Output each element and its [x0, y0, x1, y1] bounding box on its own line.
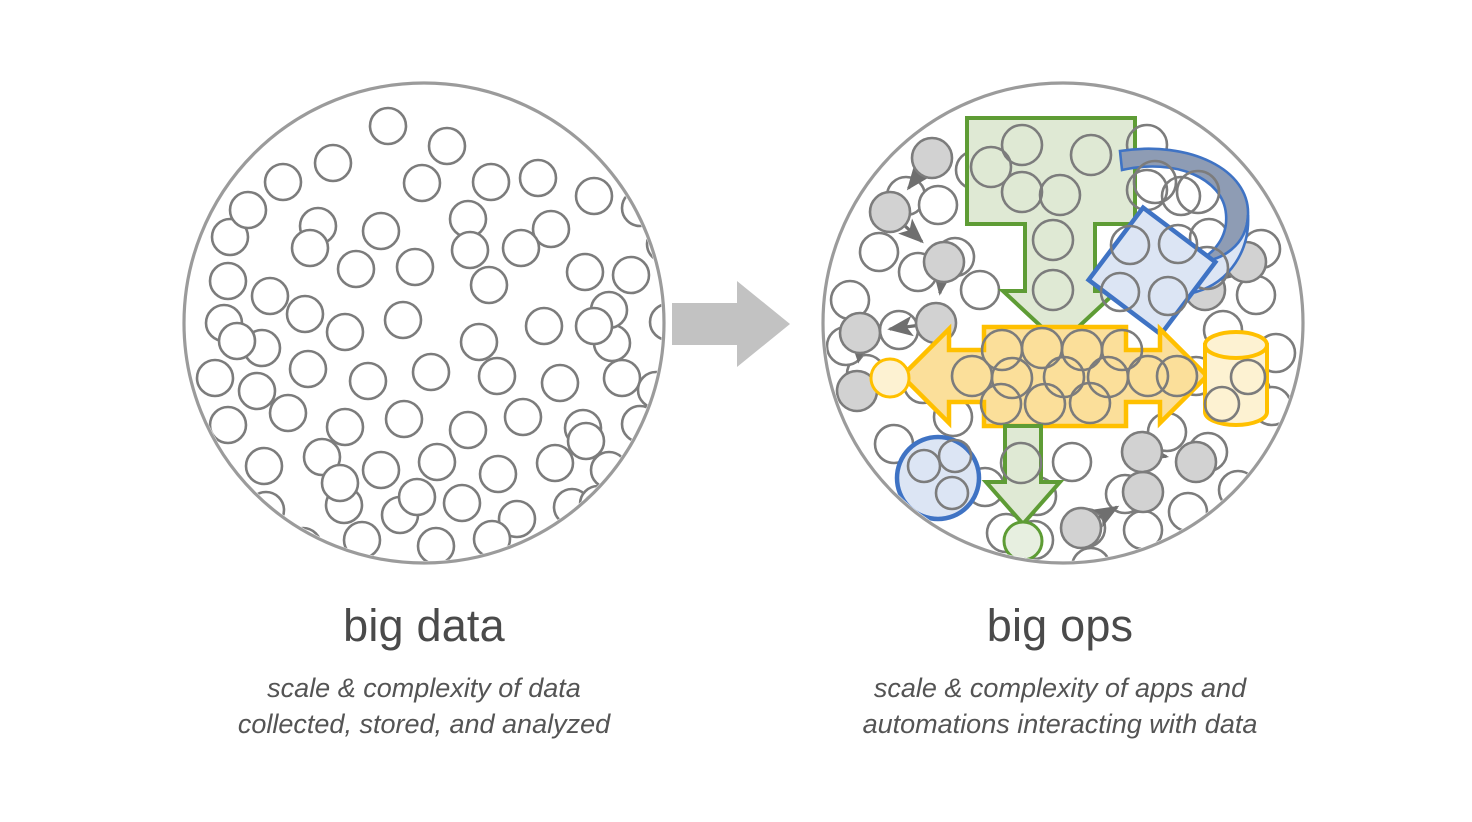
- data-dot: [397, 249, 433, 285]
- big-data-subtitle-line-2: collected, stored, and analyzed: [238, 709, 611, 739]
- ops-dot: [961, 271, 999, 309]
- data-dot: [580, 486, 616, 522]
- big-ops-subtitle-line-2: automations interacting with data: [863, 709, 1258, 739]
- ops-dot: [919, 186, 957, 224]
- data-dot: [568, 423, 604, 459]
- yellow-database-cylinder[interactable]: [1205, 332, 1267, 425]
- ops-dot: [860, 233, 898, 271]
- data-dot: [327, 409, 363, 445]
- big-data-vs-big-ops-diagram: big data scale & complexity of data coll…: [0, 0, 1472, 822]
- ops-dot: [1162, 177, 1200, 215]
- data-dot: [418, 528, 454, 564]
- automation-link-arrow: [1163, 456, 1167, 457]
- right-arrow-icon: [672, 281, 790, 367]
- data-dot: [290, 351, 326, 387]
- ops-dot: [1135, 551, 1173, 589]
- data-dot: [197, 360, 233, 396]
- data-dot: [526, 308, 562, 344]
- data-dot: [315, 145, 351, 181]
- automation-node: [1123, 472, 1163, 512]
- data-dot: [473, 164, 509, 200]
- big-data-caption: big data scale & complexity of data coll…: [238, 600, 611, 739]
- data-dot: [385, 302, 421, 338]
- data-dot: [265, 164, 301, 200]
- automation-node: [1176, 442, 1216, 482]
- data-dot: [350, 363, 386, 399]
- automation-node: [912, 138, 952, 178]
- data-dot: [252, 278, 288, 314]
- data-dot: [480, 456, 516, 492]
- big-data-title: big data: [343, 600, 506, 651]
- data-dot: [292, 230, 328, 266]
- data-dot: [452, 232, 488, 268]
- automation-node: [840, 313, 880, 353]
- data-dot: [404, 165, 440, 201]
- automation-node: [870, 192, 910, 232]
- data-dot: [479, 358, 515, 394]
- automation-node: [1061, 508, 1101, 548]
- data-dot: [537, 445, 573, 481]
- data-dot: [647, 226, 683, 262]
- big-ops-panel: [823, 83, 1303, 589]
- data-dot: [338, 251, 374, 287]
- big-data-subtitle-line-1: scale & complexity of data: [267, 673, 581, 703]
- data-dot: [287, 296, 323, 332]
- data-dot: [239, 373, 275, 409]
- data-dot: [370, 108, 406, 144]
- data-dot: [683, 368, 719, 404]
- data-dot: [399, 479, 435, 515]
- ops-dot: [1219, 471, 1257, 509]
- data-dot: [210, 263, 246, 299]
- data-dot: [248, 492, 284, 528]
- diagram-canvas: big data scale & complexity of data coll…: [0, 0, 1472, 822]
- data-dot: [285, 528, 321, 564]
- automation-node: [924, 242, 964, 282]
- data-dot: [503, 230, 539, 266]
- yellow-lone-dot: [871, 359, 909, 397]
- ops-dot: [1072, 548, 1110, 586]
- data-dot: [219, 323, 255, 359]
- data-dot: [230, 192, 266, 228]
- data-dot: [270, 395, 306, 431]
- ops-dot: [880, 311, 918, 349]
- data-dot: [246, 448, 282, 484]
- data-dot: [505, 399, 541, 435]
- data-dot: [461, 324, 497, 360]
- data-dot: [363, 213, 399, 249]
- data-dot: [576, 308, 612, 344]
- big-ops-title: big ops: [987, 600, 1134, 651]
- data-dot: [419, 444, 455, 480]
- transition-arrow: [672, 281, 790, 367]
- data-dot: [613, 257, 649, 293]
- big-ops-caption: big ops scale & complexity of apps and a…: [863, 600, 1258, 739]
- ops-dot: [1169, 493, 1207, 531]
- data-dot: [363, 452, 399, 488]
- data-dot: [604, 360, 640, 396]
- data-dot: [471, 267, 507, 303]
- data-dot: [444, 485, 480, 521]
- automation-link-arrow: [940, 283, 941, 293]
- data-dot: [576, 178, 612, 214]
- data-dot: [322, 465, 358, 501]
- big-data-panel: [184, 83, 719, 574]
- big-ops-subtitle-line-1: scale & complexity of apps and: [874, 673, 1247, 703]
- yellow-process-arrow[interactable]: [902, 327, 1207, 426]
- automation-node: [1122, 432, 1162, 472]
- data-dot: [542, 365, 578, 401]
- yellow-cylinder-top: [1205, 332, 1267, 358]
- data-dot: [413, 354, 449, 390]
- yellow-process-arrow-shape: [902, 327, 1207, 426]
- data-dot: [682, 251, 718, 287]
- data-dot: [520, 160, 556, 196]
- green-terminal-dot: [1004, 522, 1042, 560]
- ops-dot: [1053, 443, 1091, 481]
- data-dot: [450, 412, 486, 448]
- data-dot: [327, 314, 363, 350]
- data-dot: [386, 401, 422, 437]
- data-dot: [429, 128, 465, 164]
- data-dot: [567, 254, 603, 290]
- data-dot: [528, 538, 564, 574]
